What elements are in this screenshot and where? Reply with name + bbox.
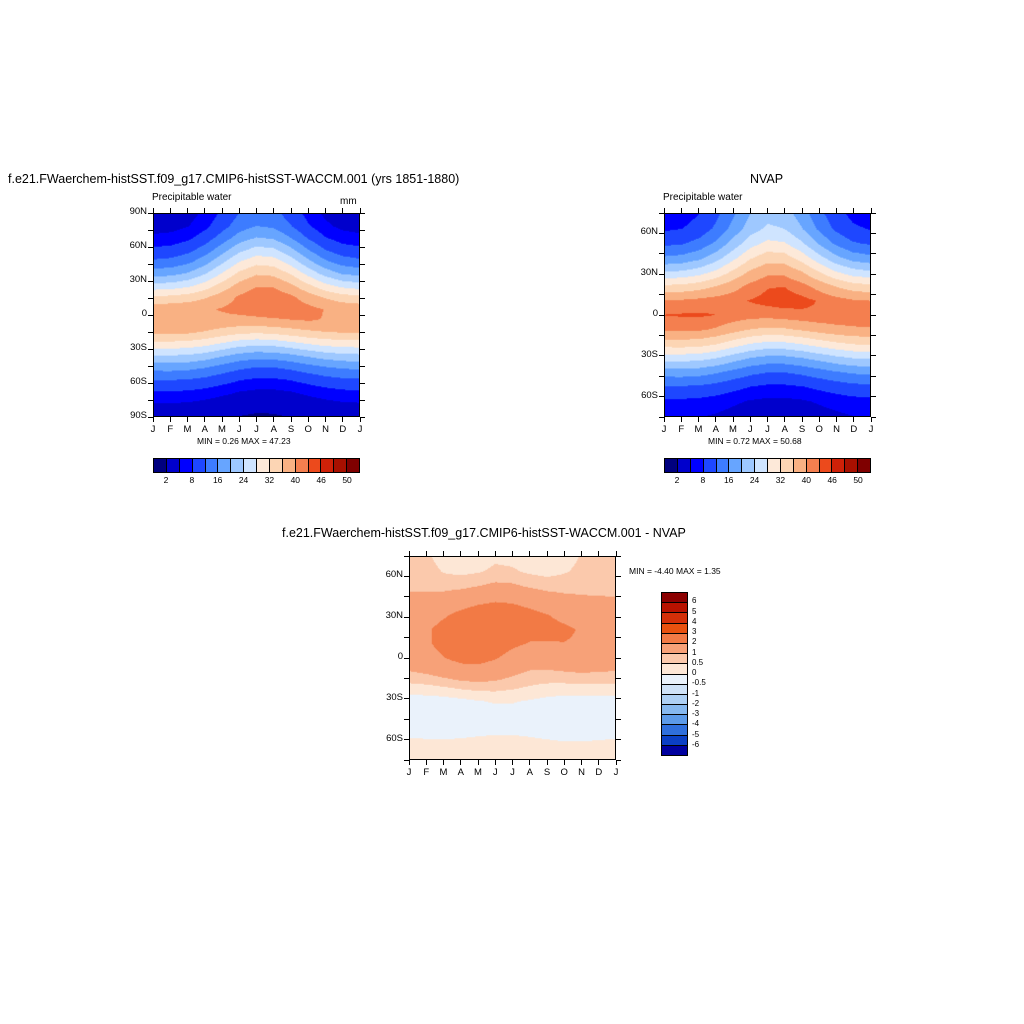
model-xtick-top <box>325 208 326 213</box>
obs-colorbar-label: 8 <box>689 475 717 485</box>
obs-xtick <box>853 417 854 422</box>
obs-xtick-top <box>871 208 872 213</box>
model-colorbar-segment <box>270 459 283 472</box>
diff-colorbar-label: 1 <box>692 648 696 657</box>
model-colorbar-label: 50 <box>333 475 361 485</box>
model-xtick <box>308 417 309 422</box>
diff-colorbar[interactable] <box>661 592 688 756</box>
diff-colorbar-segment <box>662 603 687 613</box>
model-xlabel: J <box>232 424 246 435</box>
model-ytick <box>148 332 153 333</box>
diff-colorbar-label: -0.5 <box>692 678 706 687</box>
diff-colorbar-label: -6 <box>692 740 699 749</box>
diff-contour-plot[interactable] <box>409 556 616 760</box>
model-xtick-top <box>273 208 274 213</box>
model-colorbar-label: 16 <box>204 475 232 485</box>
diff-ytick-right <box>616 576 621 577</box>
obs-xlabel: O <box>812 424 826 435</box>
model-ytick-right <box>360 230 365 231</box>
model-ytick <box>148 298 153 299</box>
model-xtick-top <box>187 208 188 213</box>
obs-ytick-right <box>871 294 876 295</box>
diff-xtick <box>478 760 479 765</box>
model-ytick-right <box>360 264 365 265</box>
obs-xtick <box>767 417 768 422</box>
model-xtick-top <box>170 208 171 213</box>
obs-xlabel: F <box>674 424 688 435</box>
diff-ytick-right <box>616 658 621 659</box>
model-xtick <box>325 417 326 422</box>
model-ytick-right <box>360 315 365 316</box>
model-xtick-top <box>153 208 154 213</box>
obs-ylabel: 30S <box>630 349 658 360</box>
diff-ytick-right <box>616 719 621 720</box>
diff-xlabel: J <box>609 767 623 778</box>
diff-xtick <box>512 760 513 765</box>
diff-colorbar-segment <box>662 624 687 634</box>
diff-panel-title: f.e21.FWaerchem-histSST.f09_g17.CMIP6-hi… <box>282 526 686 540</box>
diff-xtick-top <box>581 551 582 556</box>
model-ytick-right <box>360 247 365 248</box>
diff-colorbar-label: 6 <box>692 596 696 605</box>
model-xlabel: J <box>353 424 367 435</box>
obs-xtick-top <box>819 208 820 213</box>
diff-xlabel: S <box>540 767 554 778</box>
model-ytick-right <box>360 400 365 401</box>
diff-ytick-right <box>616 760 621 761</box>
obs-ylabel: 0 <box>630 308 658 319</box>
obs-colorbar-segment <box>794 459 807 472</box>
model-contour-plot[interactable] <box>153 213 360 417</box>
model-colorbar-segment <box>167 459 180 472</box>
model-ytick <box>148 281 153 282</box>
diff-ytick-right <box>616 637 621 638</box>
diff-xtick <box>598 760 599 765</box>
model-xlabel: J <box>146 424 160 435</box>
diff-xtick-top <box>564 551 565 556</box>
obs-xtick-top <box>750 208 751 213</box>
obs-ytick-right <box>871 396 876 397</box>
diff-xtick-top <box>460 551 461 556</box>
obs-xlabel: M <box>726 424 740 435</box>
obs-xtick <box>733 417 734 422</box>
model-xtick-top <box>342 208 343 213</box>
diff-xtick-top <box>478 551 479 556</box>
obs-xlabel: N <box>830 424 844 435</box>
obs-colorbar-segment <box>691 459 704 472</box>
model-colorbar-segment <box>154 459 167 472</box>
diff-xtick <box>443 760 444 765</box>
obs-ytick-right <box>871 253 876 254</box>
diff-colorbar-segment <box>662 715 687 725</box>
model-xtick <box>291 417 292 422</box>
diff-xlabel: J <box>506 767 520 778</box>
obs-colorbar-segment <box>781 459 794 472</box>
obs-ytick-right <box>871 213 876 214</box>
obs-colorbar-segment <box>742 459 755 472</box>
diff-xlabel: M <box>471 767 485 778</box>
diff-xlabel: N <box>575 767 589 778</box>
obs-colorbar-segment <box>729 459 742 472</box>
diff-colorbar-segment <box>662 654 687 664</box>
model-ytick-right <box>360 417 365 418</box>
model-ytick-right <box>360 281 365 282</box>
obs-colorbar[interactable] <box>664 458 871 473</box>
model-xtick <box>187 417 188 422</box>
model-colorbar-segment <box>309 459 322 472</box>
model-xlabel: D <box>336 424 350 435</box>
diff-colorbar-label: -1 <box>692 689 699 698</box>
obs-stats: MIN = 0.72 MAX = 50.68 <box>708 436 802 446</box>
model-ytick-right <box>360 366 365 367</box>
diff-xlabel: J <box>488 767 502 778</box>
model-xtick <box>170 417 171 422</box>
diff-ytick <box>404 658 409 659</box>
diff-stats: MIN = -4.40 MAX = 1.35 <box>629 566 721 576</box>
diff-ytick-right <box>616 698 621 699</box>
obs-colorbar-segment <box>755 459 768 472</box>
diff-colorbar-segment <box>662 593 687 603</box>
model-xtick <box>153 417 154 422</box>
diff-ytick-right <box>616 596 621 597</box>
obs-colorbar-label: 46 <box>818 475 846 485</box>
model-colorbar-label: 40 <box>281 475 309 485</box>
diff-xlabel: A <box>454 767 468 778</box>
obs-ytick <box>659 335 664 336</box>
model-colorbar-segment <box>321 459 334 472</box>
model-xtick <box>239 417 240 422</box>
model-panel-title: f.e21.FWaerchem-histSST.f09_g17.CMIP6-hi… <box>8 172 459 186</box>
model-units-label: mm <box>340 196 357 207</box>
diff-ytick <box>404 719 409 720</box>
diff-colorbar-label: -3 <box>692 709 699 718</box>
obs-colorbar-segment <box>678 459 691 472</box>
model-colorbar-segment <box>257 459 270 472</box>
obs-xtick <box>698 417 699 422</box>
diff-xlabel: F <box>419 767 433 778</box>
obs-xtick-top <box>698 208 699 213</box>
diff-xtick <box>564 760 565 765</box>
obs-ytick-right <box>871 233 876 234</box>
obs-xtick <box>715 417 716 422</box>
obs-xlabel: J <box>657 424 671 435</box>
diff-colorbar-segment <box>662 705 687 715</box>
diff-ytick <box>404 698 409 699</box>
obs-ytick-right <box>871 274 876 275</box>
obs-xtick-top <box>784 208 785 213</box>
model-ylabel: 0 <box>119 308 147 319</box>
diff-xlabel: D <box>592 767 606 778</box>
diff-ylabel: 60N <box>375 569 403 580</box>
obs-xlabel: S <box>795 424 809 435</box>
model-colorbar[interactable] <box>153 458 360 473</box>
obs-xtick-top <box>715 208 716 213</box>
obs-xtick-top <box>802 208 803 213</box>
obs-xtick-top <box>733 208 734 213</box>
obs-xlabel: J <box>743 424 757 435</box>
obs-ylabel: 30N <box>630 267 658 278</box>
obs-ytick-right <box>871 376 876 377</box>
obs-ytick <box>659 253 664 254</box>
diff-colorbar-segment <box>662 613 687 623</box>
obs-colorbar-label: 32 <box>766 475 794 485</box>
model-xlabel: A <box>198 424 212 435</box>
obs-ytick <box>659 315 664 316</box>
obs-colorbar-label: 50 <box>844 475 872 485</box>
model-xtick-top <box>222 208 223 213</box>
model-xtick <box>222 417 223 422</box>
diff-xtick <box>426 760 427 765</box>
diff-xtick <box>460 760 461 765</box>
diff-colorbar-segment <box>662 725 687 735</box>
obs-xtick-top <box>836 208 837 213</box>
diff-xtick-top <box>529 551 530 556</box>
model-contour-canvas <box>154 214 359 416</box>
obs-ytick-right <box>871 355 876 356</box>
obs-xtick <box>750 417 751 422</box>
model-xlabel: S <box>284 424 298 435</box>
model-colorbar-segment <box>206 459 219 472</box>
model-ytick <box>148 247 153 248</box>
obs-ytick <box>659 274 664 275</box>
model-xtick <box>273 417 274 422</box>
diff-colorbar-label: -5 <box>692 730 699 739</box>
obs-colorbar-label: 24 <box>741 475 769 485</box>
diff-ytick <box>404 678 409 679</box>
obs-xtick-top <box>853 208 854 213</box>
diff-ytick-right <box>616 739 621 740</box>
diff-ytick-right <box>616 678 621 679</box>
obs-ytick <box>659 355 664 356</box>
obs-ytick <box>659 396 664 397</box>
diff-ylabel: 0 <box>375 651 403 662</box>
model-ylabel: 90N <box>119 206 147 217</box>
model-stats: MIN = 0.26 MAX = 47.23 <box>197 436 291 446</box>
obs-ytick <box>659 294 664 295</box>
diff-ytick <box>404 739 409 740</box>
obs-colorbar-segment <box>704 459 717 472</box>
diff-colorbar-label: 3 <box>692 627 696 636</box>
diff-xtick <box>616 760 617 765</box>
diff-ylabel: 30N <box>375 610 403 621</box>
model-xtick-top <box>360 208 361 213</box>
model-ytick <box>148 315 153 316</box>
model-ylabel: 90S <box>119 410 147 421</box>
model-colorbar-label: 2 <box>152 475 180 485</box>
diff-xtick <box>529 760 530 765</box>
obs-xtick-top <box>664 208 665 213</box>
model-colorbar-segment <box>231 459 244 472</box>
diff-xtick <box>495 760 496 765</box>
model-xtick-top <box>256 208 257 213</box>
model-ytick-right <box>360 349 365 350</box>
model-ytick <box>148 366 153 367</box>
obs-colorbar-segment <box>832 459 845 472</box>
diff-xtick-top <box>547 551 548 556</box>
diff-xlabel: M <box>437 767 451 778</box>
obs-colorbar-segment <box>820 459 833 472</box>
obs-ytick-right <box>871 417 876 418</box>
obs-contour-canvas <box>665 214 870 416</box>
model-xlabel: M <box>215 424 229 435</box>
model-colorbar-label: 32 <box>255 475 283 485</box>
diff-colorbar-segment <box>662 746 687 755</box>
obs-xtick <box>802 417 803 422</box>
model-ytick-right <box>360 213 365 214</box>
diff-colorbar-label: 2 <box>692 637 696 646</box>
diff-ytick <box>404 576 409 577</box>
diff-colorbar-label: 0.5 <box>692 658 703 667</box>
diff-xtick-top <box>598 551 599 556</box>
diff-colorbar-segment <box>662 736 687 746</box>
model-xlabel: J <box>250 424 264 435</box>
model-xlabel: M <box>181 424 195 435</box>
diff-xtick-top <box>616 551 617 556</box>
diff-xtick-top <box>426 551 427 556</box>
model-colorbar-segment <box>283 459 296 472</box>
model-xlabel: F <box>163 424 177 435</box>
model-xtick <box>204 417 205 422</box>
obs-ylabel: 60S <box>630 390 658 401</box>
model-xtick-top <box>291 208 292 213</box>
model-xlabel: O <box>301 424 315 435</box>
obs-xlabel: A <box>778 424 792 435</box>
obs-xtick-top <box>767 208 768 213</box>
model-colorbar-segment <box>244 459 257 472</box>
obs-colorbar-label: 16 <box>715 475 743 485</box>
obs-xlabel: D <box>847 424 861 435</box>
obs-colorbar-segment <box>768 459 781 472</box>
model-xtick <box>256 417 257 422</box>
obs-colorbar-segment <box>845 459 858 472</box>
model-ylabel: 60N <box>119 240 147 251</box>
obs-xlabel: M <box>692 424 706 435</box>
diff-xtick <box>409 760 410 765</box>
diff-ylabel: 60S <box>375 733 403 744</box>
model-xlabel: A <box>267 424 281 435</box>
diff-xlabel: O <box>557 767 571 778</box>
model-xtick <box>342 417 343 422</box>
model-ytick-right <box>360 383 365 384</box>
obs-xtick-top <box>681 208 682 213</box>
model-colorbar-label: 46 <box>307 475 335 485</box>
obs-contour-plot[interactable] <box>664 213 871 417</box>
model-ytick-right <box>360 298 365 299</box>
diff-ylabel: 30S <box>375 692 403 703</box>
obs-xtick <box>784 417 785 422</box>
obs-ytick-right <box>871 335 876 336</box>
obs-colorbar-segment <box>858 459 870 472</box>
diff-xtick-top <box>443 551 444 556</box>
obs-colorbar-segment <box>807 459 820 472</box>
diff-ytick <box>404 617 409 618</box>
diff-xtick-top <box>512 551 513 556</box>
model-ytick <box>148 383 153 384</box>
model-colorbar-segment <box>218 459 231 472</box>
obs-ytick-right <box>871 315 876 316</box>
obs-panel-title: NVAP <box>750 172 783 186</box>
obs-ytick <box>659 233 664 234</box>
diff-xlabel: A <box>523 767 537 778</box>
obs-ytick <box>659 376 664 377</box>
diff-colorbar-segment <box>662 695 687 705</box>
obs-variable-label: Precipitable water <box>663 192 742 203</box>
obs-xtick <box>836 417 837 422</box>
model-colorbar-label: 8 <box>178 475 206 485</box>
model-colorbar-segment <box>296 459 309 472</box>
diff-ytick <box>404 637 409 638</box>
diff-xtick <box>547 760 548 765</box>
model-ytick <box>148 230 153 231</box>
diff-colorbar-label: -4 <box>692 719 699 728</box>
diff-xlabel: J <box>402 767 416 778</box>
obs-xlabel: A <box>709 424 723 435</box>
obs-xtick <box>664 417 665 422</box>
obs-xtick <box>819 417 820 422</box>
diff-ytick <box>404 596 409 597</box>
obs-colorbar-segment <box>717 459 730 472</box>
obs-colorbar-segment <box>665 459 678 472</box>
diff-ytick-right <box>616 617 621 618</box>
model-ylabel: 30N <box>119 274 147 285</box>
model-colorbar-segment <box>334 459 347 472</box>
diff-colorbar-label: 5 <box>692 607 696 616</box>
model-colorbar-segment <box>347 459 359 472</box>
obs-xtick <box>681 417 682 422</box>
obs-colorbar-label: 2 <box>663 475 691 485</box>
model-ytick <box>148 349 153 350</box>
model-ytick-right <box>360 332 365 333</box>
model-xtick <box>360 417 361 422</box>
model-colorbar-label: 24 <box>230 475 258 485</box>
obs-xlabel: J <box>761 424 775 435</box>
model-variable-label: Precipitable water <box>152 192 231 203</box>
diff-colorbar-label: 4 <box>692 617 696 626</box>
model-xtick-top <box>239 208 240 213</box>
diff-xtick <box>581 760 582 765</box>
diff-colorbar-label: 0 <box>692 668 696 677</box>
model-colorbar-segment <box>180 459 193 472</box>
obs-colorbar-label: 40 <box>792 475 820 485</box>
model-ylabel: 60S <box>119 376 147 387</box>
diff-xtick-top <box>409 551 410 556</box>
model-ylabel: 30S <box>119 342 147 353</box>
obs-xlabel: J <box>864 424 878 435</box>
model-xlabel: N <box>319 424 333 435</box>
diff-colorbar-segment <box>662 664 687 674</box>
diff-contour-canvas <box>410 557 615 759</box>
diff-xtick-top <box>495 551 496 556</box>
diff-colorbar-label: -2 <box>692 699 699 708</box>
obs-xtick <box>871 417 872 422</box>
model-xtick-top <box>204 208 205 213</box>
obs-ylabel: 60N <box>630 226 658 237</box>
diff-colorbar-segment <box>662 644 687 654</box>
model-xtick-top <box>308 208 309 213</box>
model-colorbar-segment <box>193 459 206 472</box>
model-ytick <box>148 400 153 401</box>
diff-ytick-right <box>616 556 621 557</box>
diff-colorbar-segment <box>662 675 687 685</box>
diff-colorbar-segment <box>662 634 687 644</box>
model-ytick <box>148 264 153 265</box>
diff-colorbar-segment <box>662 685 687 695</box>
